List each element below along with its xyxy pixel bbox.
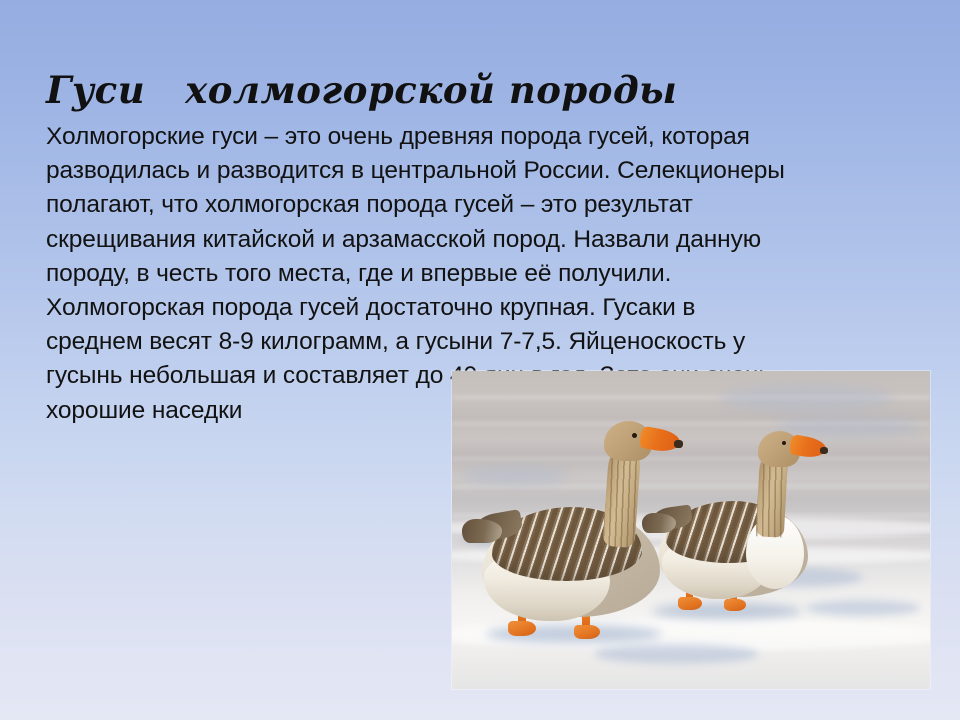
goose-eye	[632, 433, 637, 438]
goose-foot	[508, 621, 536, 636]
goose-tail	[462, 519, 502, 543]
goose-eye	[782, 441, 786, 445]
body-line: Холмогорские гуси – это очень древняя по…	[46, 120, 926, 154]
goose-front	[482, 421, 692, 653]
snow-scene	[452, 371, 930, 689]
body-line: разводилась и разводится в центральной Р…	[46, 154, 926, 188]
body-line: среднем весят 8-9 килограмм, а гусыни 7-…	[46, 325, 926, 359]
goose-foot	[574, 625, 600, 639]
goose-beak-tip	[820, 447, 828, 454]
body-line: полагают, что холмогорская порода гусей …	[46, 188, 926, 222]
goose-beak-tip	[674, 440, 683, 448]
goose-photo	[452, 371, 930, 689]
snow-hollow	[720, 384, 892, 413]
body-line: Холмогорская порода гусей достаточно кру…	[46, 291, 926, 325]
page-title: Гуси холмогорской породы	[46, 70, 677, 111]
body-line: скрещивания китайской и арзамасской поро…	[46, 223, 926, 257]
goose-foot	[724, 599, 746, 611]
presentation-slide: Гуси холмогорской породы Холмогорские гу…	[0, 0, 960, 720]
body-line: породу, в честь того места, где и впервы…	[46, 257, 926, 291]
